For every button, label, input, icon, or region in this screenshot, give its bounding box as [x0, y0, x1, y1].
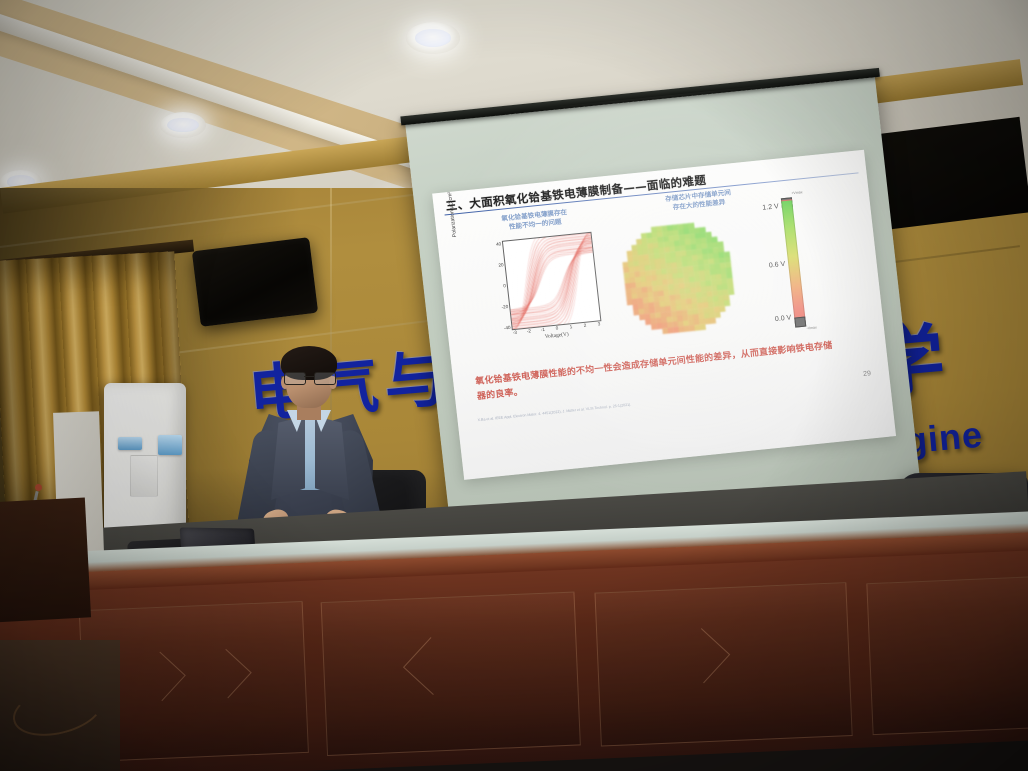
wafer-colorbar: +Vmax -Vmax 1.2 V 0.6 V 0.0 V: [744, 189, 826, 341]
pe-x-tick: 3: [597, 321, 600, 326]
projection-screen: 三、大面积氧化铪基铁电薄膜制备——面临的难题 氧化铪基铁电薄膜存在性能不均一的问…: [405, 74, 921, 537]
pe-x-tick: 1: [569, 324, 572, 329]
pe-x-tick: -3: [513, 330, 518, 335]
wafer-die-grid: [613, 214, 744, 343]
pe-y-tick: 0: [503, 283, 506, 288]
colorbar-tick: 0.0 V: [775, 314, 792, 323]
ceiling-downlight: [406, 22, 460, 54]
pe-plot-frame: 40 20 0 -20 -40 -3 -2 -1 0 1 2 3: [502, 232, 602, 331]
slide-conclusion-text: 氧化铪基铁电薄膜性能的不均一性会造成存储单元间性能的差异，从而直接影响铁电存储器…: [475, 339, 837, 405]
presentation-slide: 三、大面积氧化铪基铁电薄膜制备——面临的难题 氧化铪基铁电薄膜存在性能不均一的问…: [432, 150, 896, 480]
ceiling-downlight: [160, 112, 206, 138]
colorbar-tick: 1.2 V: [762, 203, 779, 212]
pe-y-tick: 20: [498, 262, 504, 267]
glasses-icon: [284, 372, 334, 383]
colorbar-bottom-cap: [794, 317, 806, 328]
pe-x-tick: -1: [541, 327, 546, 332]
slide-page-number: 29: [863, 370, 872, 378]
podium-left-block: [0, 497, 91, 622]
ac-energy-label: [158, 435, 182, 455]
colorbar-tick: 0.6 V: [769, 261, 786, 270]
wall-display-panel-left: [192, 237, 318, 327]
lecture-hall-photo: 电气与 C of E 学 ngine 三、大面积氧化铪基铁电薄膜制备——面临的难…: [0, 0, 1028, 771]
pe-loop-curves: [503, 233, 600, 329]
wafer-heatmap: [613, 214, 744, 343]
pe-x-tick: 2: [583, 323, 586, 328]
pe-x-tick: 0: [555, 326, 558, 331]
pe-hysteresis-chart: Polarization(μC/cm²) 40 20 0 -20 -40 -3 …: [480, 229, 612, 350]
desk-panel: [594, 582, 852, 746]
colorbar-bottom-label: -Vmax: [806, 325, 817, 330]
pe-y-tick: -40: [504, 325, 511, 331]
colorbar-top-label: +Vmax: [791, 190, 803, 195]
pe-y-tick: -20: [501, 304, 508, 310]
pe-x-tick: -2: [527, 328, 532, 333]
ac-vent-grill: [130, 455, 158, 497]
desk-panel: [866, 576, 1028, 735]
ac-brand-label: [118, 437, 142, 450]
pe-y-tick: 40: [496, 241, 502, 246]
microphone-icon: [35, 484, 42, 491]
